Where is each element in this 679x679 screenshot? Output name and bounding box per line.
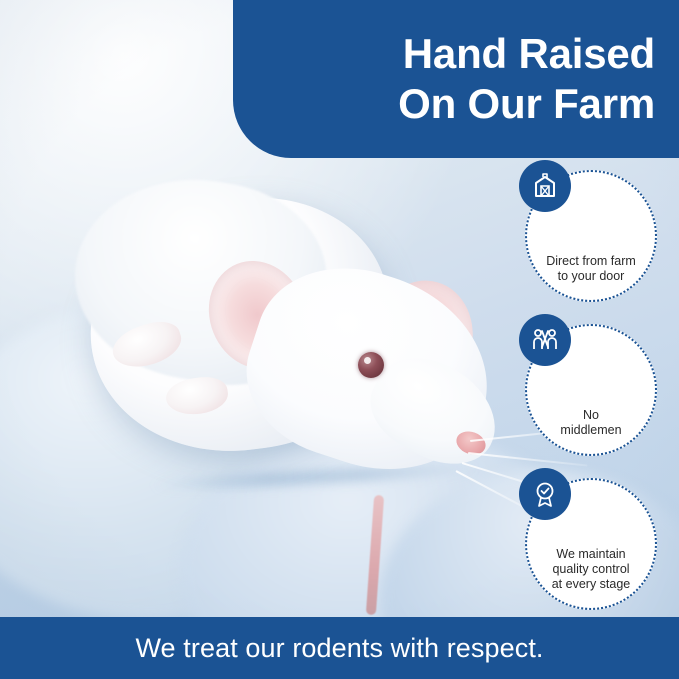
- feature-item-direct-from-farm: Direct from farm to your door: [525, 170, 657, 302]
- tagline-bar: We treat our rodents with respect.: [0, 617, 679, 679]
- barn-icon: [519, 160, 571, 212]
- feature-text-line: We maintain: [535, 547, 647, 562]
- feature-text: Direct from farm to your door: [535, 254, 647, 284]
- tagline-text: We treat our rodents with respect.: [135, 633, 543, 664]
- feature-text: No middlemen: [535, 408, 647, 438]
- headline-line-2: On Our Farm: [398, 79, 655, 129]
- headline-banner: Hand Raised On Our Farm: [233, 0, 679, 158]
- feature-text-line: to your door: [535, 269, 647, 284]
- feature-text-line: quality control: [535, 562, 647, 577]
- feature-item-quality-control: We maintain quality control at every sta…: [525, 478, 657, 610]
- feature-text-line: at every stage: [535, 577, 647, 592]
- feature-text: We maintain quality control at every sta…: [535, 547, 647, 592]
- quality-award-icon: [519, 468, 571, 520]
- feature-text-line: middlemen: [535, 423, 647, 438]
- feature-text-line: No: [535, 408, 647, 423]
- no-middlemen-icon: [519, 314, 571, 366]
- headline-line-1: Hand Raised: [403, 29, 655, 79]
- promo-poster: Hand Raised On Our Farm Direct from farm…: [0, 0, 679, 679]
- feature-text-line: Direct from farm: [535, 254, 647, 269]
- feature-list: Direct from farm to your door No middlem…: [511, 170, 661, 632]
- feature-item-no-middlemen: No middlemen: [525, 324, 657, 456]
